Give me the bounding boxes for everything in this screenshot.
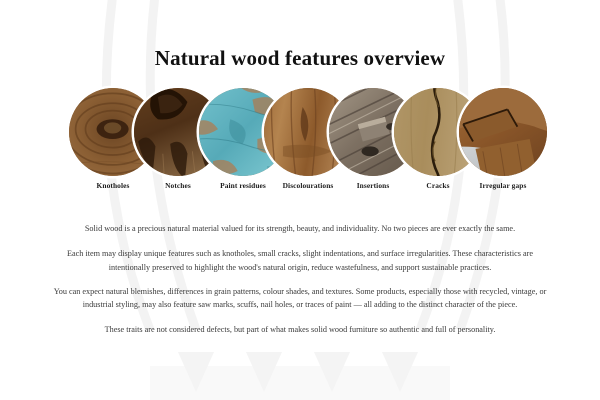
paragraph-2: Each item may display unique features su… bbox=[50, 247, 550, 274]
wood-irregular-gap-circle-icon bbox=[459, 88, 547, 176]
paragraph-4: These traits are not considered defects,… bbox=[50, 323, 550, 336]
feature-item-irregular-gaps[interactable] bbox=[459, 88, 547, 176]
feature-label-irregular-gaps: Irregular gaps bbox=[463, 181, 543, 190]
paragraph-3: You can expect natural blemishes, differ… bbox=[50, 285, 550, 312]
body-copy: Solid wood is a precious natural materia… bbox=[50, 222, 550, 337]
page-title: Natural wood features overview bbox=[0, 47, 600, 70]
document-page: Natural wood features overview bbox=[0, 0, 600, 400]
feature-circle-strip bbox=[69, 88, 547, 180]
feature-label-row: Knotholes Notches Paint residues Discolo… bbox=[0, 181, 600, 195]
paragraph-1: Solid wood is a precious natural materia… bbox=[50, 222, 550, 235]
